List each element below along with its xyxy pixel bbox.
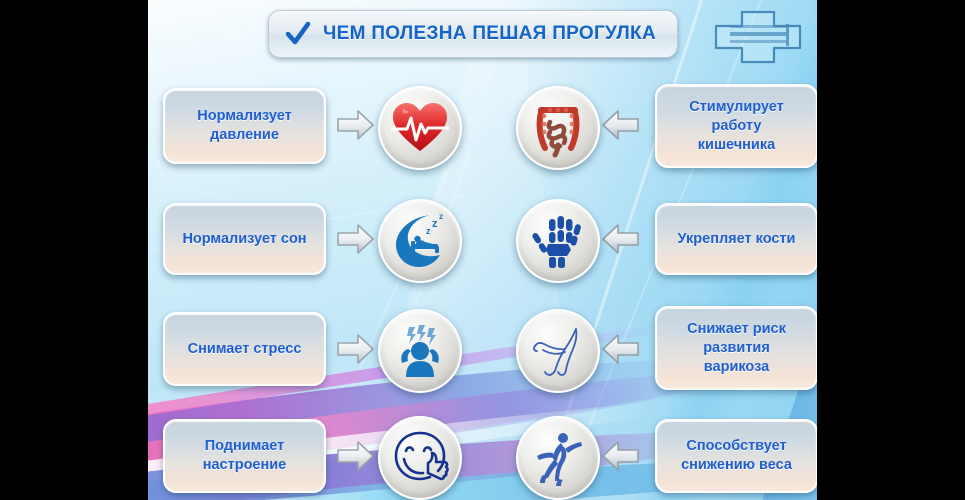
icon-circle — [516, 309, 600, 393]
smiley-thumbs-up-icon — [390, 429, 450, 487]
letterbox-left — [0, 0, 148, 500]
arrow-right-icon — [336, 332, 376, 366]
icon-circle — [378, 416, 462, 500]
benefit-card-left: Поднимает настроение — [163, 419, 326, 493]
arrow-left-icon — [600, 439, 640, 473]
benefit-label: Нормализует сон — [174, 230, 314, 249]
poster-title-bar: ЧЕМ ПОЛЕЗНА ПЕШАЯ ПРОГУЛКА — [268, 10, 678, 58]
arrow-left-icon — [600, 222, 640, 256]
benefit-label: Стимулирует работу кишечника — [681, 98, 792, 155]
hand-xray-bones-icon — [530, 212, 586, 270]
icon-circle — [516, 86, 600, 170]
page-title: ЧЕМ ПОЛЕЗНА ПЕШАЯ ПРОГУЛКА — [323, 23, 656, 45]
letterbox-right — [817, 0, 965, 500]
benefit-card-right: Снижает риск развития варикоза — [655, 306, 818, 390]
icon-circle: z z z — [378, 199, 462, 283]
benefit-card-left: Нормализует давление — [163, 88, 326, 164]
benefit-label: Поднимает настроение — [195, 437, 295, 475]
arrow-right-icon — [336, 222, 376, 256]
benefit-card-right: Укрепляет кости — [655, 203, 818, 275]
check-mark-icon — [285, 21, 311, 47]
infographic-poster: ЧЕМ ПОЛЕЗНА ПЕШАЯ ПРОГУЛКА Центр Обществ… — [0, 0, 965, 500]
icon-circle — [378, 309, 462, 393]
svg-text:z: z — [426, 226, 431, 236]
benefit-card-right: Способствует снижению веса — [655, 419, 818, 493]
benefit-label: Снижает риск развития варикоза — [679, 320, 794, 377]
svg-text:z: z — [432, 218, 438, 230]
benefit-card-right: Стимулирует работу кишечника — [655, 84, 818, 168]
legs-varicose-icon — [529, 322, 587, 380]
arrow-right-icon — [336, 108, 376, 142]
intestines-icon — [528, 98, 588, 158]
icon-circle — [378, 86, 462, 170]
stressed-person-icon — [391, 323, 449, 379]
arrow-right-icon — [336, 439, 376, 473]
benefit-label: Снимает стресс — [180, 340, 310, 359]
arrow-left-icon — [600, 108, 640, 142]
moon-sleep-icon: z z z — [390, 212, 450, 270]
dancing-figure-icon — [531, 429, 585, 487]
icon-circle — [516, 416, 600, 500]
svg-text:z: z — [439, 212, 443, 221]
benefit-label: Укрепляет кости — [670, 230, 804, 249]
benefit-label: Нормализует давление — [189, 107, 299, 145]
benefit-card-left: Нормализует сон — [163, 203, 326, 275]
benefit-card-left: Снимает стресс — [163, 312, 326, 386]
benefit-label: Способствует снижению веса — [673, 437, 800, 475]
medical-cross-logo — [712, 8, 804, 66]
heart-pulse-icon — [391, 101, 449, 155]
arrow-left-icon — [600, 332, 640, 366]
icon-circle — [516, 199, 600, 283]
